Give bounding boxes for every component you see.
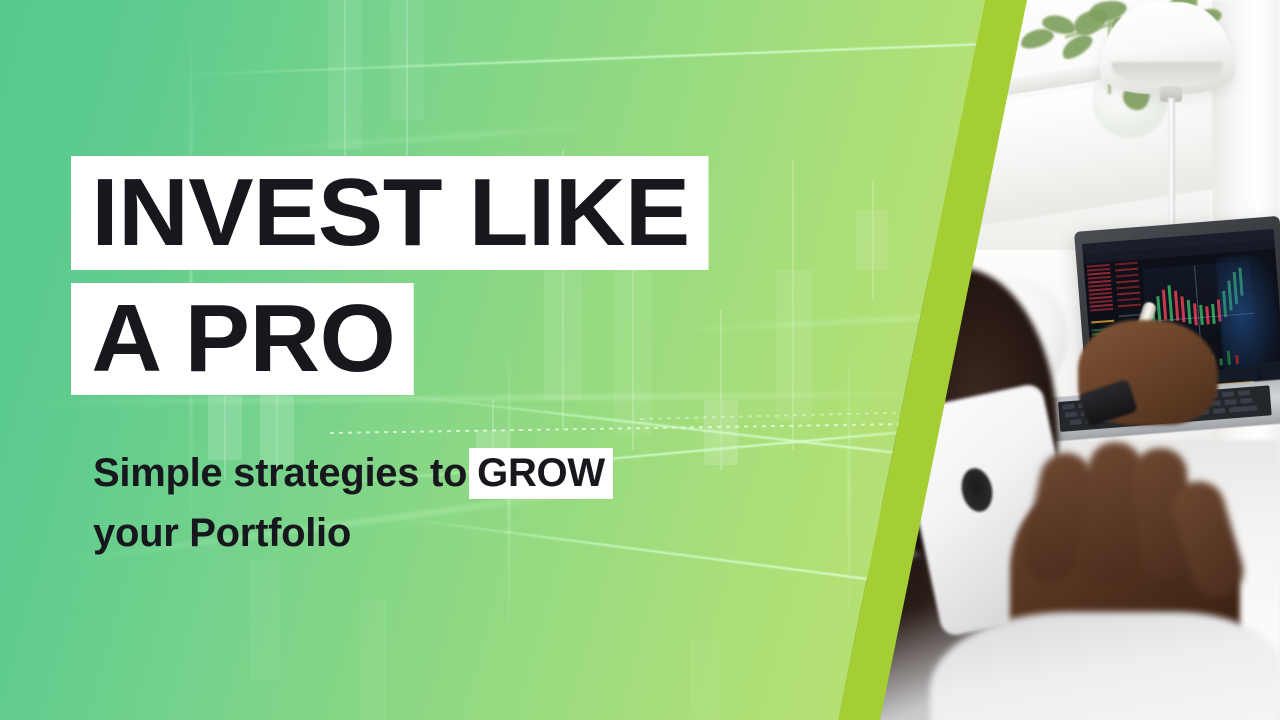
headline-line-1: INVEST LIKE	[71, 156, 708, 270]
hero-banner: INVEST LIKE A PRO Simple strategies toGR…	[0, 0, 1280, 720]
subtitle-before: Simple strategies to	[93, 451, 467, 495]
desk-lamp-pole	[1168, 98, 1175, 233]
subtitle-after: your Portfolio	[93, 511, 351, 555]
copy-block: INVEST LIKE A PRO Simple strategies toGR…	[0, 0, 900, 720]
subtitle: Simple strategies toGROW your Portfolio	[93, 443, 853, 563]
person-shirt	[930, 612, 1280, 720]
subtitle-highlight: GROW	[469, 448, 613, 499]
headline-line-2: A PRO	[71, 283, 414, 395]
